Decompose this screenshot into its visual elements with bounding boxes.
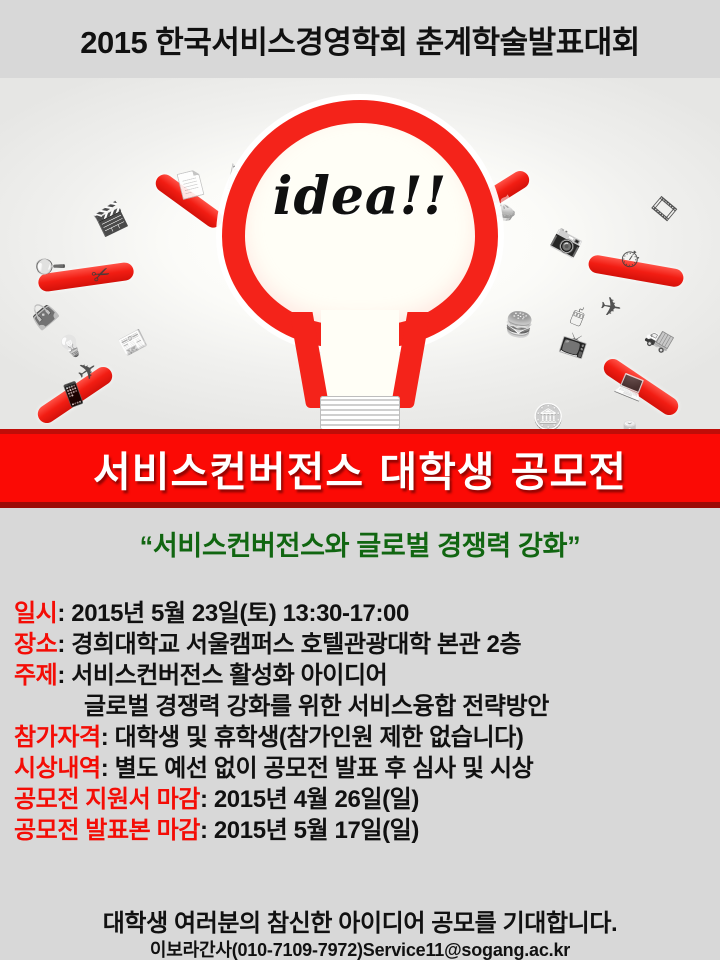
detail-label: 공모전 발표본 마감 xyxy=(14,817,200,844)
newspaper-icon: 📰 xyxy=(116,327,151,359)
lightbulb-shape: idea!! xyxy=(210,100,510,429)
camera-icon: 📷 xyxy=(548,224,586,259)
detail-separator: : xyxy=(101,724,115,751)
detail-line: 주제: 서비스컨버전스 활성화 아이디어 xyxy=(14,660,714,691)
detail-separator: : xyxy=(200,817,214,844)
page-title: 2015 한국서비스경영학회 춘계학술발표대회 xyxy=(80,17,640,62)
detail-list: 일시: 2015년 5월 23일(토) 13:30-17:00장소: 경희대학교… xyxy=(14,598,714,846)
plane-icon: ✈ xyxy=(598,292,624,321)
idea-text: idea!! xyxy=(210,166,510,227)
detail-line: 글로벌 경쟁력 강화를 위한 서비스융합 전략방안 xyxy=(14,691,714,722)
detail-line: 공모전 발표본 마감: 2015년 5월 17일(일) xyxy=(14,815,714,846)
headline-banner: 서비스컨버전스 대학생 공모전 xyxy=(0,429,720,508)
detail-separator: : xyxy=(57,600,71,627)
document-icon: 📄 xyxy=(174,171,209,202)
film-icon: 🎞 xyxy=(646,192,682,227)
detail-line: 참가자격: 대학생 및 휴학생(참가인원 제한 없습니다) xyxy=(14,722,714,753)
lightbulb-neck-fill xyxy=(321,310,399,406)
detail-separator: : xyxy=(57,662,71,689)
detail-separator: : xyxy=(57,631,71,658)
detail-value: 2015년 4월 26일(일) xyxy=(214,786,419,813)
truck-icon: 🚚 xyxy=(642,323,677,356)
detail-label: 장소 xyxy=(14,631,57,658)
conference-poster: 2015 한국서비스경영학회 춘계학술발표대회 🎬🔍✂📊📄📐💼🥧📷⏱✈🪙💻🔋🔑✈… xyxy=(0,0,720,960)
detail-value: 대학생 및 휴학생(참가인원 제한 없습니다) xyxy=(115,724,524,751)
detail-label: 주제 xyxy=(14,662,57,689)
footer-contact: 이보라간사(010-7109-7972)Service11@sogang.ac.… xyxy=(0,936,720,960)
detail-line: 공모전 지원서 마감: 2015년 4월 26일(일) xyxy=(14,784,714,815)
detail-value: 별도 예선 없이 공모전 발표 후 심사 및 시상 xyxy=(115,755,534,782)
detail-label: 공모전 지원서 마감 xyxy=(14,786,200,813)
tv-icon: 📺 xyxy=(557,330,590,359)
mouse-icon: 🖱 xyxy=(569,304,588,327)
coins-stack-icon: 🪙 xyxy=(532,404,564,429)
detail-separator: : xyxy=(200,786,214,813)
detail-value: 경희대학교 서울캠퍼스 호텔관광대학 본관 2층 xyxy=(71,631,521,658)
detail-label: 참가자격 xyxy=(14,724,101,751)
poster-title-bar: 2015 한국서비스경영학회 춘계학술발표대회 xyxy=(0,0,720,78)
footer-message: 대학생 여러분의 참신한 아이디어 공모를 기대합니다. xyxy=(0,903,720,938)
detail-label: 일시 xyxy=(14,600,57,627)
subtitle-text: “서비스컨버전스와 글로벌 경쟁력 강화” xyxy=(0,524,720,563)
detail-value: 글로벌 경쟁력 강화를 위한 서비스융합 전략방안 xyxy=(84,693,549,720)
detail-value: 2015년 5월 23일(토) 13:30-17:00 xyxy=(71,600,409,627)
bag-icon: 👜 xyxy=(26,298,61,332)
detail-separator: : xyxy=(101,755,115,782)
detail-label: 시상내역 xyxy=(14,755,101,782)
headline-text: 서비스컨버전스 대학생 공모전 xyxy=(93,438,627,498)
detail-value: 2015년 5월 17일(일) xyxy=(214,817,419,844)
detail-line: 시상내역: 별도 예선 없이 공모전 발표 후 심사 및 시상 xyxy=(14,753,714,784)
detail-line: 장소: 경희대학교 서울캠퍼스 호텔관광대학 본관 2층 xyxy=(14,629,714,660)
detail-line: 일시: 2015년 5월 23일(토) 13:30-17:00 xyxy=(14,598,714,629)
idea-lightbulb-graphic: 🎬🔍✂📊📄📐💼🥧📷⏱✈🪙💻🔋🔑✈📱✈💡🖥⚙👜📰☕📕📺🍔🖱🚚🎞 idea!! xyxy=(0,78,720,429)
battery-icon: 🔋 xyxy=(616,422,643,429)
detail-value: 서비스컨버전스 활성화 아이디어 xyxy=(71,662,387,689)
clapperboard-icon: 🎬 xyxy=(90,200,130,238)
lightbulb-screw-base xyxy=(320,396,400,429)
